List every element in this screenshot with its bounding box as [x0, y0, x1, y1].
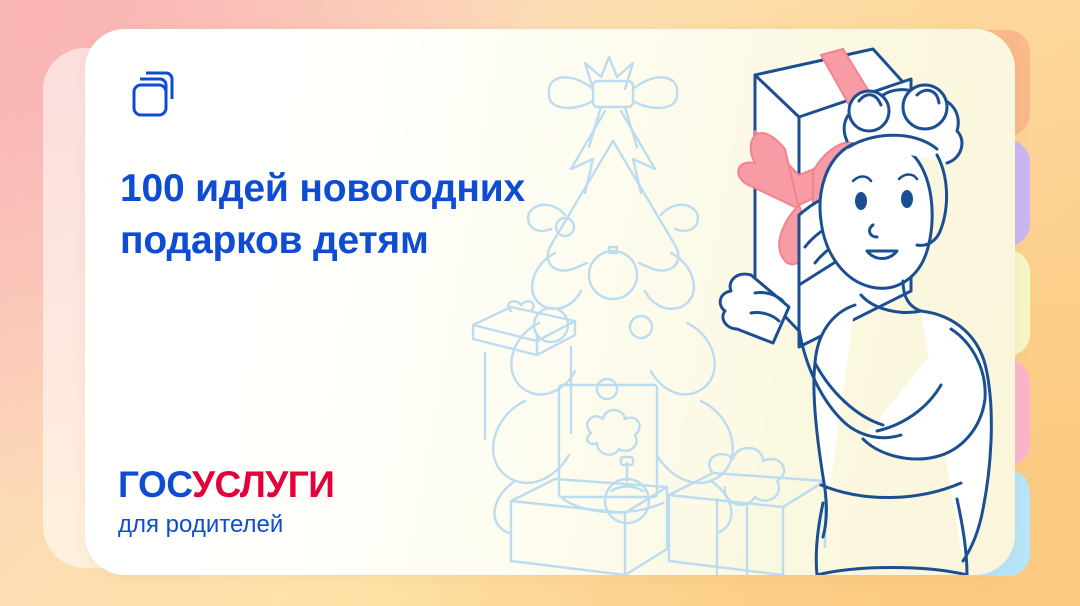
- title-line-2: подарков детям: [120, 215, 680, 267]
- christmas-tree-icon: [493, 57, 733, 533]
- illustration-new-year: [455, 29, 1015, 575]
- logo-wordmark: ГОСУСЛУГИ: [118, 466, 334, 503]
- logo-part-red: УСЛУГИ: [192, 464, 334, 505]
- logo-part-blue: ГОС: [118, 464, 192, 505]
- gosuslugi-logo[interactable]: ГОСУСЛУГИ для родителей: [118, 466, 334, 537]
- promo-banner: 100 идей новогодних подарков детям ГОСУС…: [0, 0, 1080, 606]
- logo-subtitle: для родителей: [118, 513, 334, 537]
- page-title: 100 идей новогодних подарков детям: [120, 163, 680, 267]
- promo-card: 100 идей новогодних подарков детям ГОСУС…: [85, 29, 1015, 575]
- title-line-1: 100 идей новогодних: [120, 163, 680, 215]
- girl-with-gift-icon: [720, 49, 991, 575]
- cards-stack-icon: [126, 65, 184, 123]
